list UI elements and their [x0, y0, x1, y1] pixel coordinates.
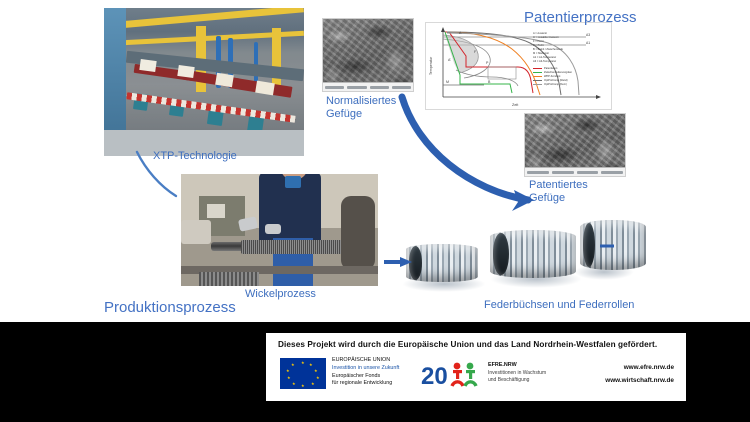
banner-urls: www.efre.nrw.de www.wirtschaft.nrw.de	[605, 362, 674, 388]
efre-text-block: EFRE.NRW Investitionen in Wachstum und B…	[488, 361, 546, 385]
bearing-bushing	[406, 244, 478, 282]
eu-text-block: EUROPÄISCHE UNION Investition in unsere …	[332, 357, 399, 388]
legend-series-4: OptProKomp (Kern)	[533, 83, 595, 87]
url-wirtschaft[interactable]: www.wirtschaft.nrw.de	[605, 375, 674, 388]
slide-stage: XTP-Technologie Normalisiertes Gefüge	[0, 0, 750, 422]
svg-text:Temperatur: Temperatur	[429, 56, 433, 75]
efre-line-1: Investitionen in Wachstum	[488, 370, 546, 378]
label-wickelprozess: Wickelprozess	[245, 288, 316, 301]
svg-text:P: P	[486, 61, 489, 65]
label-xtp-technologie: XTP-Technologie	[153, 150, 237, 163]
svg-text:A': A'	[448, 58, 451, 62]
bearing-roller-cage	[490, 230, 576, 278]
slide-canvas: XTP-Technologie Normalisiertes Gefüge	[0, 0, 750, 322]
patented-micrograph	[524, 113, 626, 177]
wickel-photo	[181, 174, 378, 286]
xtp-factory-photo	[104, 8, 304, 156]
heading-patentierprozess: Patentierprozess	[524, 9, 637, 27]
label-federbuechsen: Federbüchsen und Federrollen	[484, 299, 634, 312]
eu-line-3: Europäischer Fonds	[332, 373, 399, 381]
normalised-micrograph	[322, 18, 414, 92]
eu-flag-icon: ★ ★ ★ ★ ★ ★ ★ ★ ★ ★	[280, 358, 326, 389]
efre-line-2: und Beschäftigung	[488, 377, 546, 385]
eu-line-1: EUROPÄISCHE UNION	[332, 357, 399, 365]
label-normalisiertes-gefuege: Normalisiertes Gefüge	[326, 95, 396, 121]
arrow-normalised-to-patented	[402, 97, 528, 200]
eu-line-2: Investition in unsere Zukunft	[332, 365, 399, 373]
ttt-legend: A = Austenit A' = instabiler Austenit F …	[533, 32, 595, 87]
banner-title: Dieses Projekt wird durch die Europäisch…	[278, 340, 657, 349]
url-efre[interactable]: www.efre.nrw.de	[605, 362, 674, 375]
eu-line-4: für regionale Entwicklung	[332, 380, 399, 388]
eu-funding-banner: Dieses Projekt wird durch die Europäisch…	[266, 333, 686, 401]
svg-text:M: M	[446, 80, 449, 84]
efre-logo-icon: 20	[421, 360, 483, 388]
svg-text:Zeit: Zeit	[512, 103, 519, 107]
heading-produktionsprozess: Produktionsprozess	[104, 299, 236, 317]
label-patentiertes-gefuege: Patentiertes Gefüge	[529, 179, 588, 205]
bearing-ring	[580, 220, 646, 270]
svg-text:B: B	[488, 80, 491, 84]
efre-name: EFRE.NRW	[488, 362, 517, 368]
bearings-product-image	[398, 218, 628, 298]
efre-logo-number: 20	[421, 363, 448, 388]
